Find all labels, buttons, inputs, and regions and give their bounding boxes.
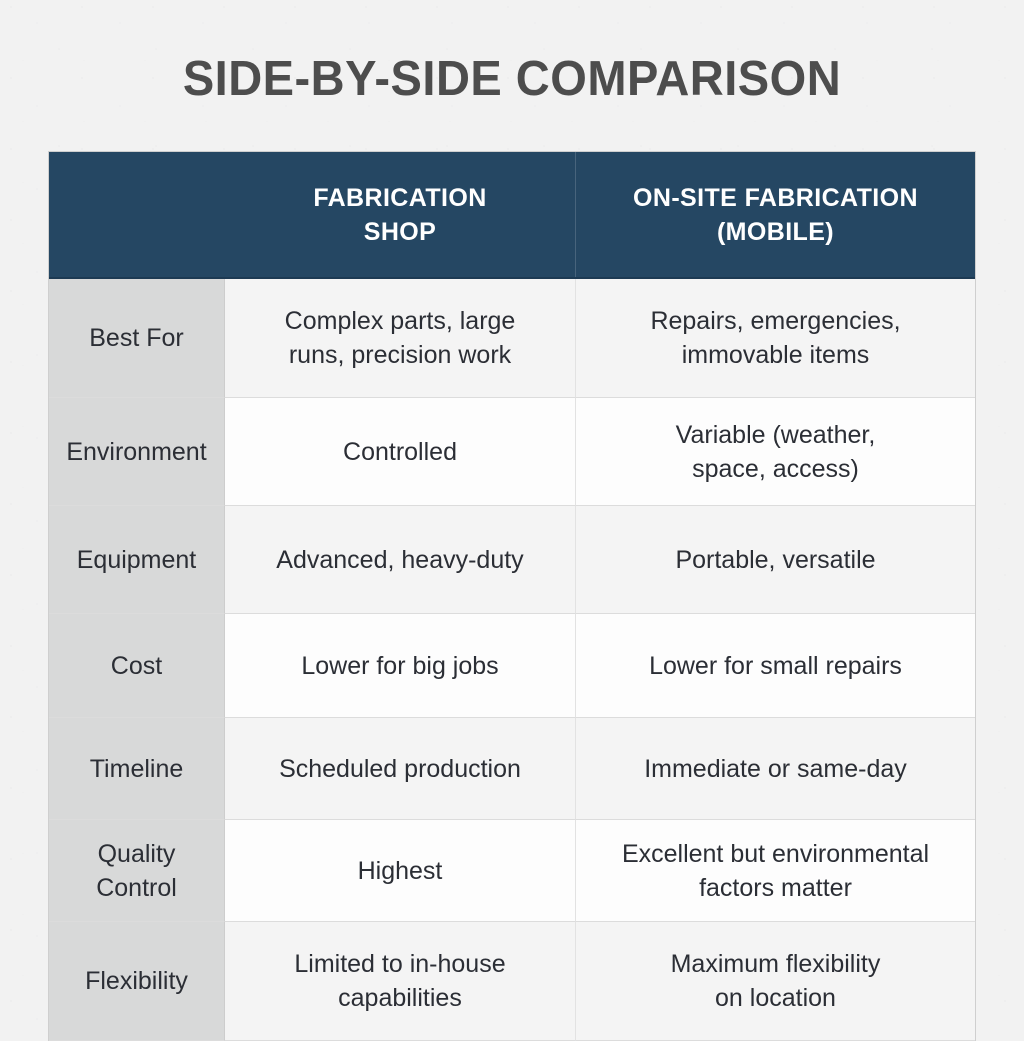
page-title: SIDE-BY-SIDE COMPARISON xyxy=(20,49,1003,109)
row-label-flexibility: Flexibility xyxy=(49,922,225,1041)
header-cell-label-column xyxy=(49,152,225,277)
table-row: Timeline Scheduled production Immediate … xyxy=(49,718,975,820)
cell-flexibility-fabrication-shop: Limited to in-house capabilities xyxy=(225,922,576,1041)
cell-text-line-2: runs, precision work xyxy=(289,341,511,369)
row-label-timeline: Timeline xyxy=(49,718,225,820)
cell-best-for-fabrication-shop: Complex parts, large runs, precision wor… xyxy=(225,279,576,398)
cell-text-line-2: on location xyxy=(715,984,836,1012)
cell-timeline-on-site: Immediate or same-day xyxy=(576,718,975,820)
comparison-infographic: SIDE-BY-SIDE COMPARISON FABRICATION SHOP… xyxy=(0,0,1024,1024)
table-row: Quality Control Highest Excellent but en… xyxy=(49,820,975,922)
cell-flexibility-on-site: Maximum flexibility on location xyxy=(576,922,975,1041)
table-row: Cost Lower for big jobs Lower for small … xyxy=(49,614,975,718)
cell-text-line-2: capabilities xyxy=(338,984,462,1012)
cell-text-line-1: Lower for big jobs xyxy=(301,652,498,680)
header-fabrication-shop-line-2: SHOP xyxy=(364,218,436,246)
cell-equipment-on-site: Portable, versatile xyxy=(576,506,975,614)
comparison-table: FABRICATION SHOP ON-SITE FABRICATION (MO… xyxy=(48,151,976,1041)
cell-best-for-on-site: Repairs, emergencies, immovable items xyxy=(576,279,975,398)
table-header-row: FABRICATION SHOP ON-SITE FABRICATION (MO… xyxy=(49,152,975,279)
table-row: Equipment Advanced, heavy-duty Portable,… xyxy=(49,506,975,614)
row-label-equipment: Equipment xyxy=(49,506,225,614)
cell-text-line-1: Maximum flexibility xyxy=(671,950,881,978)
cell-text-line-1: Excellent but environmental xyxy=(622,840,929,868)
cell-text-line-2: immovable items xyxy=(682,341,870,369)
header-cell-on-site-fabrication: ON-SITE FABRICATION (MOBILE) xyxy=(576,152,975,277)
cell-quality-control-on-site: Excellent but environmental factors matt… xyxy=(576,820,975,922)
cell-equipment-fabrication-shop: Advanced, heavy-duty xyxy=(225,506,576,614)
cell-text-line-1: Portable, versatile xyxy=(675,546,875,574)
cell-text-line-1: Repairs, emergencies, xyxy=(650,307,900,335)
cell-text-line-2: space, access) xyxy=(692,455,859,483)
cell-text-line-1: Highest xyxy=(358,857,443,885)
table-row: Best For Complex parts, large runs, prec… xyxy=(49,279,975,398)
cell-text-line-1: Advanced, heavy-duty xyxy=(276,546,523,574)
table-row: Flexibility Limited to in-house capabili… xyxy=(49,922,975,1041)
cell-environment-on-site: Variable (weather, space, access) xyxy=(576,398,975,506)
cell-quality-control-fabrication-shop: Highest xyxy=(225,820,576,922)
cell-text-line-1: Limited to in-house xyxy=(294,950,505,978)
cell-text-line-1: Controlled xyxy=(343,438,457,466)
header-fabrication-shop-line-1: FABRICATION xyxy=(313,184,486,212)
cell-text-line-1: Lower for small repairs xyxy=(649,652,902,680)
cell-text-line-1: Variable (weather, xyxy=(676,421,876,449)
cell-timeline-fabrication-shop: Scheduled production xyxy=(225,718,576,820)
cell-cost-fabrication-shop: Lower for big jobs xyxy=(225,614,576,718)
header-on-site-line-1: ON-SITE FABRICATION xyxy=(633,184,918,212)
header-on-site-line-2: (MOBILE) xyxy=(717,218,834,246)
row-label-environment: Environment xyxy=(49,398,225,506)
row-label-cost: Cost xyxy=(49,614,225,718)
cell-text-line-1: Scheduled production xyxy=(279,755,521,783)
row-label-quality-control: Quality Control xyxy=(49,820,225,922)
row-label-line-1: Quality xyxy=(98,840,176,868)
table-row: Environment Controlled Variable (weather… xyxy=(49,398,975,506)
header-cell-fabrication-shop: FABRICATION SHOP xyxy=(225,152,576,277)
cell-text-line-1: Complex parts, large xyxy=(285,307,516,335)
cell-cost-on-site: Lower for small repairs xyxy=(576,614,975,718)
cell-environment-fabrication-shop: Controlled xyxy=(225,398,576,506)
row-label-best-for: Best For xyxy=(49,279,225,398)
row-label-line-2: Control xyxy=(96,874,177,902)
cell-text-line-2: factors matter xyxy=(699,874,852,902)
cell-text-line-1: Immediate or same-day xyxy=(644,755,907,783)
